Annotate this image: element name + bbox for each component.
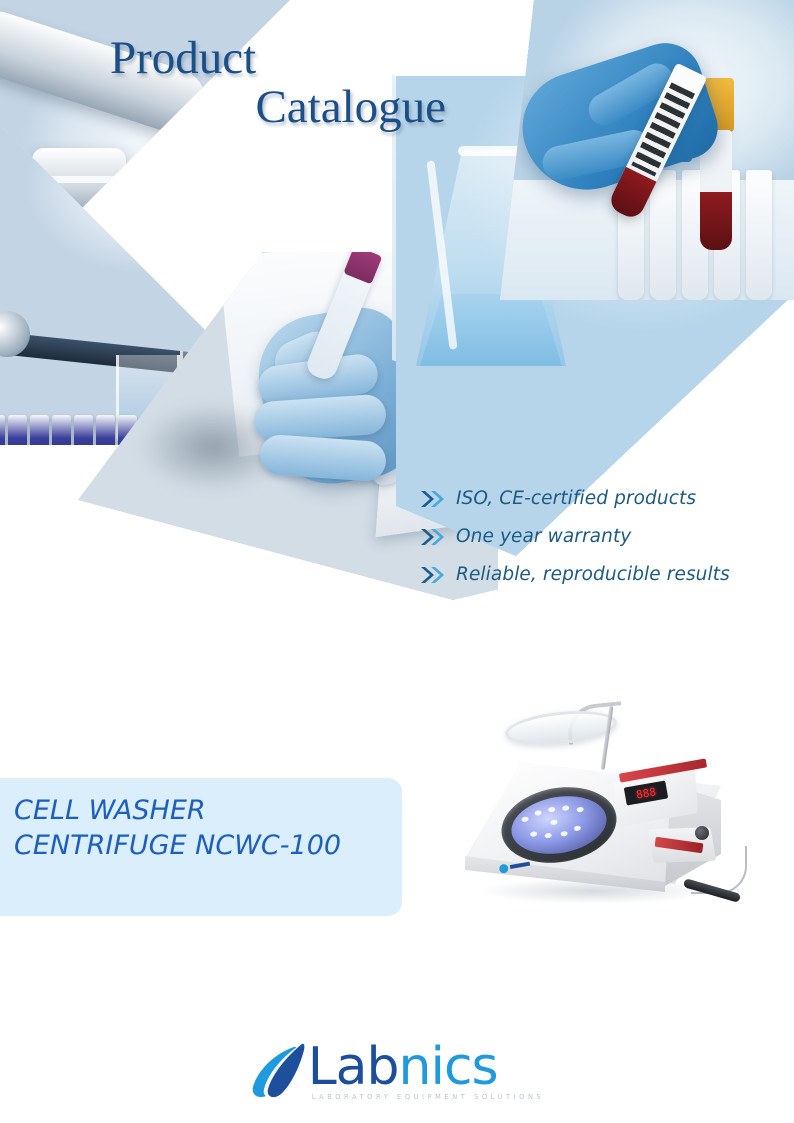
display-value: 888 (635, 786, 656, 800)
rotor-viewing-window (507, 789, 611, 861)
product-photo: 888 (455, 700, 745, 930)
feature-text: Reliable, reproducible results (456, 564, 730, 585)
catalogue-page: Product Catalogue ISO, CE-certified prod… (0, 0, 794, 1123)
brand-name-part2: nics (399, 1037, 498, 1097)
title-line-1: Product (110, 34, 450, 83)
brand-name-part1: Lab (308, 1037, 399, 1097)
feature-text: One year warranty (456, 526, 631, 547)
control-knob[interactable] (695, 826, 709, 840)
page-title: Product Catalogue (110, 34, 450, 133)
title-line-2: Catalogue (110, 83, 450, 132)
brand-logo: Labnics LABORATORY EQUIPMENT SOLUTIONS (0, 1034, 794, 1110)
brand-wordmark: Labnics (308, 1043, 545, 1092)
list-item: ISO, CE-certified products (420, 488, 780, 509)
feature-list: ISO, CE-certified products One year warr… (420, 488, 780, 602)
double-chevron-icon (420, 489, 446, 509)
list-item: Reliable, reproducible results (420, 564, 780, 585)
flask-liquid (420, 294, 562, 366)
product-title-box: CELL WASHER CENTRIFUGE NCWC-100 (0, 778, 402, 916)
feature-text: ISO, CE-certified products (456, 488, 696, 509)
brand-tagline: LABORATORY EQUIPMENT SOLUTIONS (308, 1093, 545, 1101)
double-chevron-icon (420, 527, 446, 547)
product-name: CELL WASHER CENTRIFUGE NCWC-100 (14, 794, 382, 863)
magnifier-lens (504, 706, 619, 750)
list-item: One year warranty (420, 526, 780, 547)
swoosh-leaf-icon (250, 1043, 306, 1101)
double-chevron-icon (420, 565, 446, 585)
